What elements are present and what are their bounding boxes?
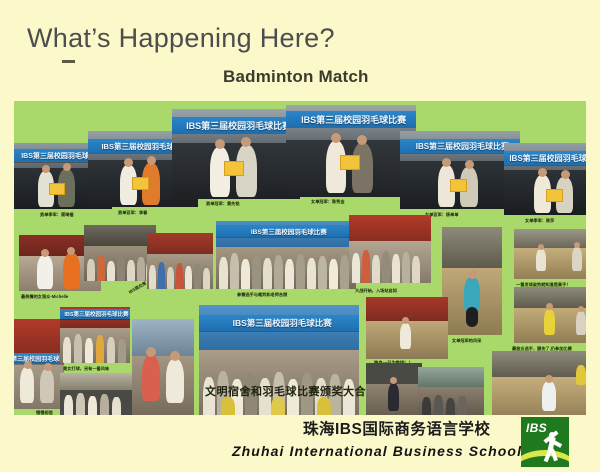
school-name-english: Zhuhai International Business School: [232, 443, 522, 459]
photo-p21: [492, 351, 586, 415]
caption-p10: 大战开始，入场站自如: [355, 289, 397, 293]
photo-p15: IBS第三届校园羽毛球比赛: [60, 307, 130, 363]
photo-p19: [366, 297, 448, 359]
photo-p20: [366, 363, 422, 415]
photo-p17: [132, 319, 194, 415]
caption-p4: 女单冠军：陈秀金: [311, 200, 345, 204]
photo-p6: IBS第三届校园羽毛球比赛: [504, 143, 586, 215]
page-title: What’s Happening Here?: [27, 23, 335, 54]
photo-p9: [147, 233, 213, 289]
banner-text: IBS第三届校园羽毛球比赛: [199, 315, 359, 331]
photo-p9b: IBS第三届校园羽毛球比赛: [216, 221, 356, 289]
photo-p18: IBS第三届校园羽毛球比赛: [199, 305, 359, 415]
banner-text: IBS第三届校园羽毛球比赛: [172, 117, 300, 133]
presentation-slide: What’s Happening Here? Badminton Match I…: [0, 0, 600, 472]
banner-text: IBS第三届校园羽毛球比赛: [286, 111, 416, 127]
banner-text: IBS第三届校园羽毛球比赛: [14, 353, 64, 364]
caption-p1: 男单季军：周琦楷: [40, 213, 74, 217]
slide-footer: 珠海IBS国际商务语言学校 Zhuhai International Busin…: [0, 416, 600, 472]
title-dash-decoration: [62, 60, 75, 63]
caption-p9: 参赛选手与裁判和老师合照: [237, 293, 287, 297]
photo-p8: [84, 225, 156, 281]
caption-p18: 文明宿舍和羽毛球比赛颁奖大合照: [205, 387, 378, 398]
photo-p5: IBS第三届校园羽毛球比赛: [400, 131, 520, 209]
ibs-logo: IBS: [521, 417, 569, 467]
caption-p7: 最热情的女观众-Michelle: [21, 295, 68, 299]
banner-text: IBS第三届校园羽毛球比赛: [400, 139, 520, 153]
caption-p6: 女单季军：陈莎: [525, 219, 554, 223]
photo-p16: [60, 373, 134, 415]
banner-text: IBS第三届校园羽毛球比赛: [504, 151, 586, 165]
photo-p14: IBS第三届校园羽毛球比赛: [14, 319, 64, 409]
photo-p10: [349, 215, 431, 283]
banner-text: IBS第三届校园羽毛球比赛: [60, 309, 130, 319]
caption-p11: 女单冠军的风采: [452, 339, 481, 343]
banner-text: IBS第三届校园羽毛球比赛: [216, 225, 356, 237]
slide-subtitle: Badminton Match: [223, 67, 369, 87]
caption-p15: 美女打球，另有一番风味: [63, 367, 109, 371]
logo-text: IBS: [526, 421, 547, 435]
school-name-chinese: 珠海IBS国际商务语言学校: [303, 417, 490, 439]
photo-p13: [514, 287, 586, 343]
caption-p3: 男单冠军：黄先铭: [206, 202, 240, 206]
caption-p14: 慢慢相信: [36, 411, 53, 415]
photo-p3: IBS第三届校园羽毛球比赛: [172, 109, 300, 199]
photo-p20b: [418, 367, 484, 415]
photo-p4: IBS第三届校园羽毛球比赛: [286, 105, 416, 197]
caption-p2: 男单亚军：李春: [118, 211, 147, 215]
photo-p11: [442, 227, 502, 335]
caption-p8: IBS观众席: [128, 281, 147, 294]
photo-p12: [514, 229, 586, 279]
photo-collage-panel: IBS第三届校园羽毛球比赛 男单季军：周琦楷 IBS第三届校园羽毛球比赛 男单亚…: [14, 101, 586, 415]
